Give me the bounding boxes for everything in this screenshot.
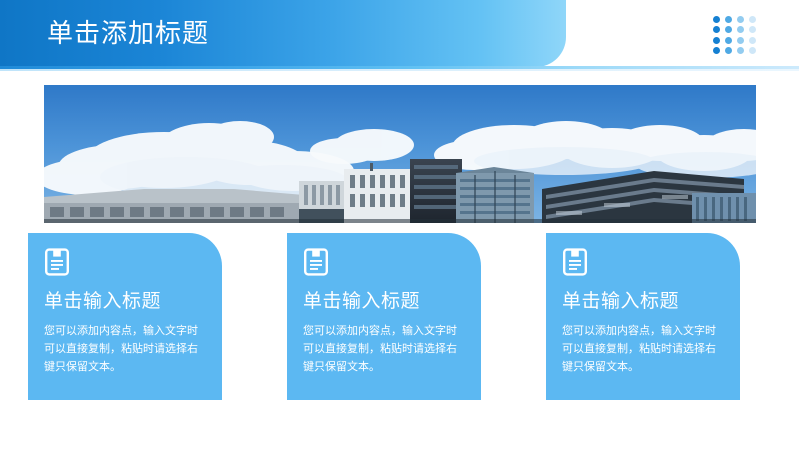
feature-card[interactable]: 单击输入标题 您可以添加内容点，输入文字时可以直接复制，粘贴时请选择右键只保留文… (546, 233, 740, 400)
dot-icon (725, 37, 732, 44)
dot-icon (713, 26, 720, 33)
document-icon (562, 248, 588, 276)
page-title[interactable]: 单击添加标题 (47, 16, 209, 50)
dot-icon (749, 47, 756, 54)
dot-icon (713, 47, 720, 54)
slide-canvas: 单击添加标题 (0, 0, 799, 450)
document-icon (44, 248, 70, 276)
dot-icon (749, 16, 756, 23)
card-body-text[interactable]: 您可以添加内容点，输入文字时可以直接复制，粘贴时请选择右键只保留文本。 (303, 322, 465, 376)
dot-icon (713, 16, 720, 23)
dot-icon (737, 16, 744, 23)
dot-icon (749, 26, 756, 33)
document-icon (303, 248, 329, 276)
card-body-text[interactable]: 您可以添加内容点，输入文字时可以直接复制，粘贴时请选择右键只保留文本。 (44, 322, 206, 376)
dot-icon (713, 37, 720, 44)
feature-card-list: 单击输入标题 您可以添加内容点，输入文字时可以直接复制，粘贴时请选择右键只保留文… (28, 233, 740, 400)
dot-icon (725, 16, 732, 23)
dot-icon (725, 26, 732, 33)
card-title[interactable]: 单击输入标题 (562, 289, 724, 315)
dot-icon (749, 37, 756, 44)
dot-grid-decoration (711, 15, 757, 55)
dot-icon (737, 37, 744, 44)
dot-icon (737, 47, 744, 54)
feature-card[interactable]: 单击输入标题 您可以添加内容点，输入文字时可以直接复制，粘贴时请选择右键只保留文… (28, 233, 222, 400)
card-body-text[interactable]: 您可以添加内容点，输入文字时可以直接复制，粘贴时请选择右键只保留文本。 (562, 322, 724, 376)
header-divider-line-soft (0, 69, 799, 71)
cityscape-photo (44, 85, 756, 223)
dot-icon (737, 26, 744, 33)
feature-card[interactable]: 单击输入标题 您可以添加内容点，输入文字时可以直接复制，粘贴时请选择右键只保留文… (287, 233, 481, 400)
card-title[interactable]: 单击输入标题 (44, 289, 206, 315)
dot-icon (725, 47, 732, 54)
card-title[interactable]: 单击输入标题 (303, 289, 465, 315)
